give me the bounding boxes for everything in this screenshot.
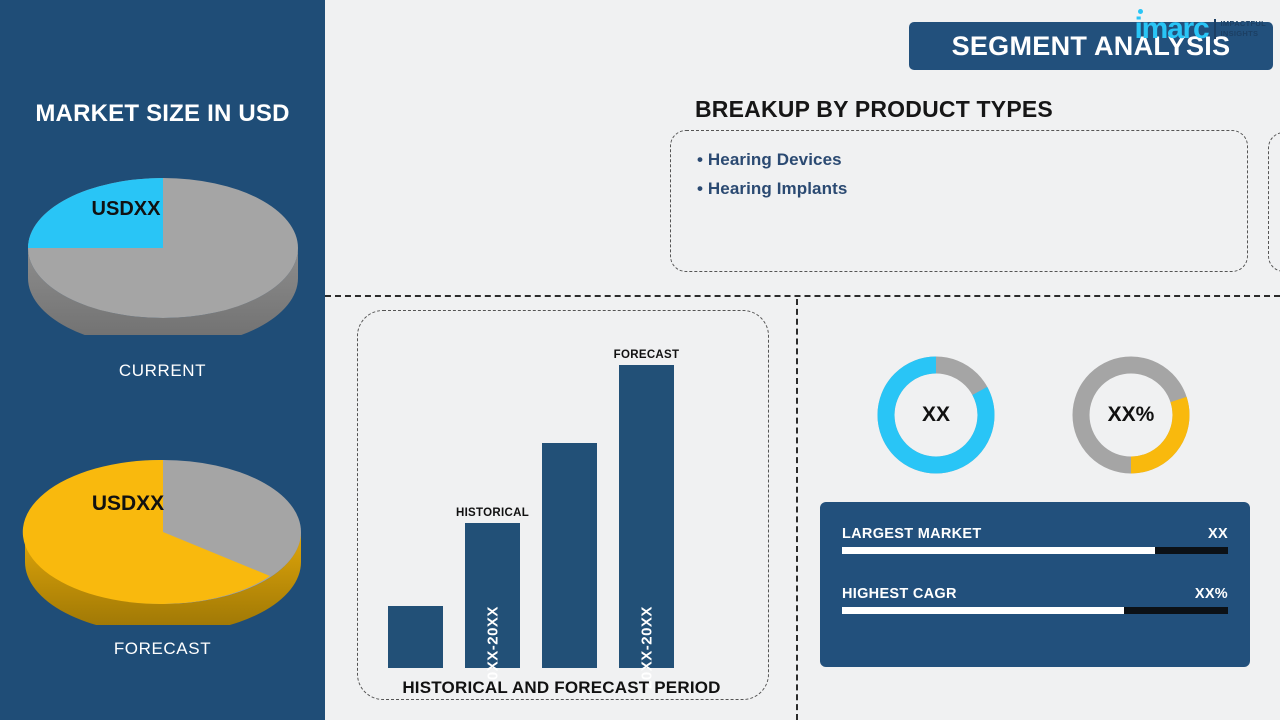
bar-annotation-forecast: FORECAST bbox=[614, 349, 680, 361]
pie-slice-label: USDXX bbox=[91, 198, 161, 220]
stat-label: LARGEST MARKET bbox=[842, 526, 982, 542]
logo-tagline-line2: INSIGHTS bbox=[1221, 29, 1266, 39]
breakup-item-label: Hearing Devices bbox=[708, 150, 842, 169]
current-pie-caption: CURRENT bbox=[0, 361, 325, 381]
bullet-icon: • bbox=[697, 179, 703, 198]
stat-value: XX bbox=[1208, 526, 1228, 542]
donut-center-label: XX bbox=[875, 354, 997, 476]
breakup-item-label: Hearing Implants bbox=[708, 179, 848, 198]
forecast-pie-caption: FORECAST bbox=[0, 639, 325, 659]
bar-annotation-historical: HISTORICAL bbox=[456, 507, 529, 519]
current-pie-chart: USDXX bbox=[23, 160, 303, 335]
stat-progress-fill bbox=[842, 607, 1124, 614]
bar-3 bbox=[542, 443, 597, 668]
metrics-panel: XX XX% LARGEST MARKET XX HIGHEST CAGR XX… bbox=[800, 299, 1280, 720]
stat-header: LARGEST MARKET XX bbox=[842, 526, 1228, 542]
forecast-pie-group: USDXX FORECAST bbox=[0, 440, 325, 659]
growth-rate-box: CAGR XX% (20XX-20XX) bbox=[1268, 132, 1280, 272]
logo-text: imarc bbox=[1134, 12, 1208, 45]
logo-tagline: IMPACTFUL INSIGHTS bbox=[1214, 19, 1266, 39]
stat-progress-track bbox=[842, 547, 1228, 554]
bar-column: FORECAST 20XX-20XX bbox=[619, 365, 674, 668]
pie-slice-label: USDXX bbox=[91, 492, 163, 515]
growth-rate-heading: GROWTH RATE bbox=[1265, 99, 1280, 125]
bar-1 bbox=[388, 606, 443, 668]
stat-row: HIGHEST CAGR XX% bbox=[842, 586, 1228, 614]
bar-4: FORECAST 20XX-20XX bbox=[619, 365, 674, 668]
breakup-list-item: • Hearing Implants bbox=[697, 174, 1247, 203]
historical-forecast-panel: HISTORICAL 20XX-20XX FORECAST 20XX-20XX … bbox=[325, 299, 798, 720]
current-pie-group: USDXX CURRENT bbox=[0, 160, 325, 381]
stat-header: HIGHEST CAGR XX% bbox=[842, 586, 1228, 602]
stat-label: HIGHEST CAGR bbox=[842, 586, 957, 602]
highest-cagr-donut: XX% bbox=[1070, 354, 1192, 476]
bar-period-label: 20XX-20XX bbox=[638, 606, 655, 689]
donut-center-label: XX% bbox=[1070, 354, 1192, 476]
bar-chart: HISTORICAL 20XX-20XX FORECAST 20XX-20XX bbox=[388, 358, 718, 668]
logo-wordmark: imarc bbox=[1134, 14, 1208, 44]
bullet-icon: • bbox=[697, 150, 703, 169]
key-metrics-card: LARGEST MARKET XX HIGHEST CAGR XX% bbox=[820, 502, 1250, 667]
market-size-sidebar: MARKET SIZE IN USD USDXX CURRENT bbox=[0, 0, 325, 720]
bar-period-label: 20XX-20XX bbox=[484, 606, 501, 689]
largest-market-donut: XX bbox=[875, 354, 997, 476]
breakup-heading: BREAKUP BY PRODUCT TYPES bbox=[695, 96, 1053, 123]
stat-row: LARGEST MARKET XX bbox=[842, 526, 1228, 554]
breakup-list-item: • Hearing Devices bbox=[697, 145, 1247, 174]
bar-column bbox=[542, 443, 597, 668]
bar-2: HISTORICAL 20XX-20XX bbox=[465, 523, 520, 668]
bar-column bbox=[388, 606, 443, 668]
logo-tagline-line1: IMPACTFUL bbox=[1221, 19, 1266, 29]
stat-progress-fill bbox=[842, 547, 1155, 554]
imarc-logo: imarc IMPACTFUL INSIGHTS bbox=[1134, 14, 1266, 44]
stat-value: XX% bbox=[1195, 586, 1228, 602]
header-band: SEGMENT ANALYSIS imarc IMPACTFUL INSIGHT… bbox=[325, 0, 1280, 297]
barchart-caption: HISTORICAL AND FORECAST PERIOD bbox=[325, 678, 798, 698]
stat-progress-track bbox=[842, 607, 1228, 614]
breakup-box: • Hearing Devices • Hearing Implants bbox=[670, 130, 1248, 272]
sidebar-title: MARKET SIZE IN USD bbox=[0, 100, 325, 128]
forecast-pie-chart: USDXX bbox=[18, 440, 308, 625]
bar-column: HISTORICAL 20XX-20XX bbox=[465, 523, 520, 668]
